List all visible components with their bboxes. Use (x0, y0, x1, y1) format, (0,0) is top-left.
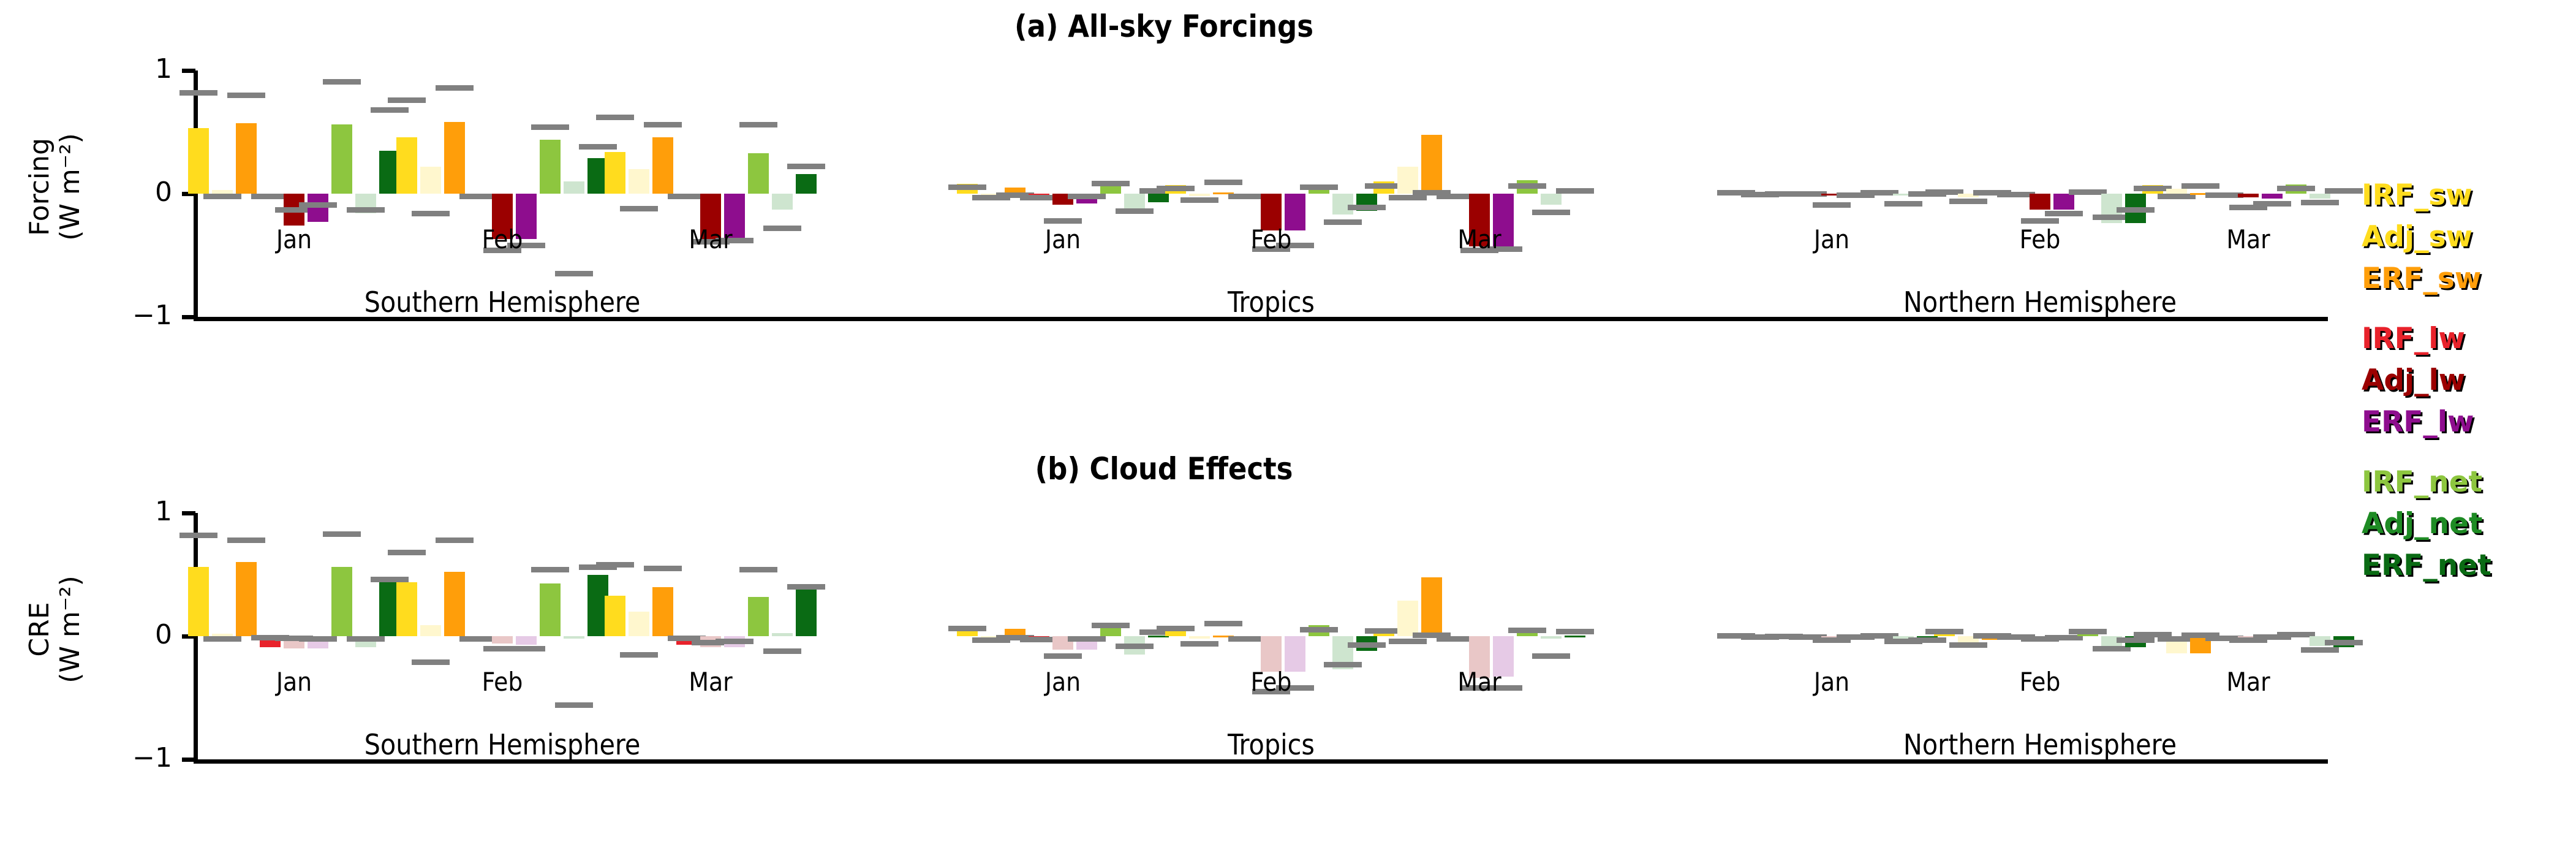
legend-item-erf_net[interactable]: ERF_net (2362, 551, 2491, 580)
marker-a-2-0-Adj_lw (1813, 202, 1851, 208)
panel-a-all-sky-forcings: (a) All-sky Forcings Forcing (W m⁻²) 10−… (0, 0, 2576, 392)
marker-b-0-2-ERF_sw (644, 566, 682, 571)
bar-b-0-2-Adj_sw (629, 612, 649, 636)
marker-a-1-0-IRF_net (1092, 181, 1130, 186)
marker-a-0-2-IRF_sw (596, 115, 634, 120)
figure-root: (a) All-sky Forcings Forcing (W m⁻²) 10−… (0, 0, 2576, 847)
marker-b-0-2-IRF_net (739, 567, 777, 572)
month-label-a-1-0: Jan (971, 227, 1155, 253)
marker-a-1-2-ERF_net (1556, 188, 1594, 194)
group-label-a-0: Southern Hemisphere (196, 288, 809, 316)
y-tick-label-1: 0 (40, 621, 172, 648)
group-label-a-2: Northern Hemisphere (1734, 288, 2346, 316)
panel-b-plot-area: 10−1JanFebMarSouthern HemisphereJanFebMa… (0, 442, 2576, 835)
marker-b-0-0-ERF_lw (299, 636, 337, 642)
bar-a-0-0-ERF_lw (308, 194, 328, 222)
month-label-b-0-2: Mar (619, 669, 803, 695)
marker-b-1-1-ERF_sw (1204, 621, 1242, 626)
marker-a-1-1-ERF_sw (1204, 180, 1242, 185)
legend-item-adj_sw[interactable]: Adj_sw (2362, 222, 2472, 251)
marker-a-0-1-IRF_sw (388, 97, 426, 103)
bar-a-1-2-Adj_net (1541, 194, 1562, 205)
group-label-b-2: Northern Hemisphere (1734, 731, 2346, 759)
bar-b-0-2-Adj_net (772, 633, 793, 636)
marker-a-0-1-Adj_sw (412, 211, 450, 216)
marker-a-2-2-ERF_net (2325, 188, 2363, 194)
bar-a-0-2-IRF_net (748, 153, 769, 194)
bar-b-0-2-ERF_sw (652, 587, 673, 636)
bar-a-1-0-ERF_net (1148, 194, 1169, 202)
bar-a-0-0-IRF_net (331, 124, 352, 194)
marker-b-1-0-ERF_lw (1068, 636, 1106, 642)
marker-b-1-2-ERF_net (1556, 629, 1594, 634)
legend-item-erf_sw[interactable]: ERF_sw (2362, 264, 2481, 293)
marker-b-2-0-ERF_net (1908, 637, 1946, 643)
month-label-a-2-1: Feb (1948, 227, 2132, 253)
marker-b-0-0-IRF_sw (179, 533, 217, 538)
legend-item-adj_lw[interactable]: Adj_lw (2362, 366, 2465, 395)
marker-b-1-2-Adj_sw (1389, 639, 1427, 644)
bar-a-2-1-ERF_lw (2053, 194, 2074, 210)
legend-item-irf_lw[interactable]: IRF_lw (2362, 324, 2465, 353)
marker-b-0-1-ERF_lw (507, 646, 545, 651)
y-tick-0 (182, 69, 195, 73)
month-label-a-0-1: Feb (410, 227, 594, 253)
group-label-b-0: Southern Hemisphere (196, 731, 809, 759)
bar-a-0-1-Adj_sw (420, 167, 441, 194)
month-label-a-2-0: Jan (1740, 227, 1924, 253)
marker-a-0-1-ERF_net (579, 144, 617, 150)
bar-b-0-2-IRF_net (748, 597, 769, 636)
marker-b-0-1-Adj_sw (412, 659, 450, 665)
y-tick-label-2: −1 (40, 302, 172, 329)
marker-b-2-1-IRF_sw (1925, 629, 1963, 634)
marker-a-0-0-IRF_net (323, 79, 361, 85)
bar-a-0-2-ERF_sw (652, 137, 673, 194)
month-label-b-1-1: Feb (1179, 669, 1363, 695)
bar-b-2-1-IRF_net (2077, 634, 2098, 636)
marker-a-1-1-Adj_net (1324, 219, 1362, 225)
bar-a-0-1-IRF_sw (396, 137, 417, 194)
bar-b-0-1-Adj_net (564, 636, 584, 639)
y-tick-0 (182, 511, 195, 515)
bar-b-0-0-IRF_net (331, 567, 352, 636)
y-tick-label-0: 1 (40, 56, 172, 83)
month-label-a-0-2: Mar (619, 227, 803, 253)
bar-a-1-1-Adj_sw (1189, 194, 1210, 196)
bar-b-0-0-ERF_sw (236, 562, 257, 636)
marker-a-0-1-ERF_sw (436, 85, 474, 91)
group-label-b-1: Tropics (965, 731, 1577, 759)
bar-b-0-0-IRF_sw (188, 567, 209, 636)
y-tick-2 (182, 315, 195, 319)
marker-b-0-1-IRF_net (531, 567, 569, 572)
month-label-b-2-0: Jan (1740, 669, 1924, 695)
marker-a-0-2-ERF_sw (644, 122, 682, 127)
marker-a-2-1-Adj_sw (1949, 199, 1987, 204)
marker-a-0-0-Adj_sw (203, 194, 241, 199)
bar-a-0-1-ERF_sw (444, 122, 465, 194)
marker-b-2-1-IRF_net (2069, 629, 2107, 634)
bar-b-0-1-Adj_sw (420, 625, 441, 636)
legend: IRF_swAdj_swERF_swIRF_lwAdj_lwERF_lwIRF_… (2362, 181, 2576, 671)
bar-a-2-2-ERF_lw (2262, 194, 2283, 199)
marker-a-2-2-IRF_net (2277, 186, 2315, 191)
marker-a-2-1-ERF_net (2117, 207, 2155, 213)
bar-b-0-1-ERF_sw (444, 572, 465, 636)
month-label-a-0-0: Jan (202, 227, 386, 253)
bar-a-0-1-IRF_net (540, 140, 561, 194)
group-label-a-1: Tropics (965, 288, 1577, 316)
marker-b-0-0-IRF_net (323, 531, 361, 537)
marker-b-0-1-IRF_sw (388, 550, 426, 555)
marker-a-0-0-ERF_sw (227, 93, 265, 98)
bar-b-0-2-ERF_net (796, 585, 817, 636)
panel-a-plot-area: 10−1JanFebMarSouthern HemisphereJanFebMa… (0, 0, 2576, 392)
marker-b-1-1-Adj_sw (1180, 641, 1218, 647)
marker-b-0-2-ERF_lw (716, 639, 754, 644)
marker-a-2-1-Adj_lw (2021, 218, 2059, 224)
marker-b-1-1-IRF_net (1300, 627, 1338, 632)
marker-b-0-1-Adj_net (555, 702, 593, 708)
legend-item-adj_net[interactable]: Adj_net (2362, 509, 2482, 538)
bar-a-0-2-IRF_sw (605, 152, 625, 194)
bar-b-1-2-ERF_sw (1421, 577, 1442, 636)
bar-b-0-1-ERF_lw (516, 636, 537, 645)
bar-b-1-2-Adj_sw (1397, 601, 1418, 636)
marker-a-0-0-Adj_net (347, 207, 385, 213)
marker-b-0-0-Adj_net (347, 636, 385, 642)
marker-b-0-1-ERF_sw (436, 537, 474, 543)
marker-b-2-1-ERF_net (2117, 637, 2155, 643)
marker-a-0-1-IRF_net (531, 124, 569, 130)
marker-b-2-2-Adj_net (2301, 647, 2339, 653)
month-label-a-1-2: Mar (1388, 227, 1571, 253)
marker-a-2-2-Adj_net (2301, 200, 2339, 205)
legend-item-erf_lw[interactable]: ERF_lw (2362, 408, 2474, 436)
y-tick-label-1: 0 (40, 179, 172, 206)
month-label-b-1-2: Mar (1388, 669, 1571, 695)
marker-a-0-0-ERF_net (371, 107, 409, 113)
bar-b-0-1-Adj_lw (492, 636, 513, 644)
marker-a-0-2-Adj_sw (620, 206, 658, 211)
marker-a-0-0-IRF_sw (179, 90, 217, 96)
marker-a-1-1-Adj_sw (1180, 197, 1218, 203)
marker-a-1-2-IRF_net (1508, 183, 1546, 189)
marker-a-1-1-IRF_sw (1157, 186, 1195, 191)
marker-a-2-2-ERF_sw (2181, 183, 2219, 189)
marker-b-0-2-Adj_net (763, 648, 801, 654)
bar-a-1-2-Adj_sw (1397, 167, 1418, 194)
marker-b-2-2-ERF_net (2325, 640, 2363, 645)
marker-b-0-2-ERF_net (787, 584, 825, 590)
month-label-b-0-1: Feb (410, 669, 594, 695)
bar-a-0-2-Adj_sw (629, 169, 649, 194)
marker-b-0-2-Adj_sw (620, 652, 658, 658)
marker-b-0-0-Adj_sw (203, 636, 241, 642)
marker-b-1-1-IRF_sw (1157, 626, 1195, 631)
bar-b-0-2-IRF_sw (605, 596, 625, 636)
bar-a-2-2-Adj_lw (2238, 194, 2259, 197)
bar-a-0-0-ERF_sw (236, 123, 257, 194)
panel-b-cloud-effects: (b) Cloud Effects CRE (W m⁻²) 10−1JanFeb… (0, 442, 2576, 835)
y-tick-2 (182, 758, 195, 762)
bar-b-0-1-IRF_sw (396, 582, 417, 636)
month-label-b-0-0: Jan (202, 669, 386, 695)
bar-b-1-2-ERF_net (1565, 636, 1585, 637)
legend-item-irf_net[interactable]: IRF_net (2362, 468, 2482, 496)
marker-a-1-0-Adj_lw (1044, 218, 1082, 224)
marker-a-1-1-ERF_net (1348, 205, 1386, 210)
month-label-a-2-2: Mar (2156, 227, 2340, 253)
marker-b-1-1-ERF_net (1348, 642, 1386, 648)
marker-b-1-0-IRF_net (1092, 623, 1130, 628)
legend-item-irf_sw[interactable]: IRF_sw (2362, 181, 2472, 210)
bar-a-2-1-Adj_lw (2030, 194, 2050, 210)
marker-a-1-1-IRF_net (1300, 184, 1338, 190)
marker-a-0-0-ERF_lw (299, 202, 337, 208)
marker-a-2-1-ERF_lw (2045, 211, 2083, 216)
marker-a-2-0-Adj_net (1884, 201, 1922, 207)
marker-a-2-2-ERF_lw (2253, 201, 2291, 207)
month-label-a-1-1: Feb (1179, 227, 1363, 253)
marker-b-1-0-IRF_sw (948, 626, 986, 631)
month-label-b-2-2: Mar (2156, 669, 2340, 695)
y-tick-label-0: 1 (40, 498, 172, 525)
marker-b-1-0-Adj_lw (1044, 653, 1082, 659)
marker-a-1-0-ERF_lw (1068, 194, 1106, 199)
marker-b-2-1-Adj_sw (1949, 642, 1987, 648)
bar-b-0-1-IRF_net (540, 583, 561, 636)
month-label-b-2-1: Feb (1948, 669, 2132, 695)
marker-b-0-0-ERF_sw (227, 537, 265, 543)
bar-a-0-1-Adj_net (564, 181, 584, 194)
marker-b-1-2-Adj_net (1532, 653, 1570, 659)
marker-a-0-2-IRF_net (739, 122, 777, 127)
bar-a-0-0-IRF_sw (188, 128, 209, 194)
marker-b-1-2-IRF_net (1508, 628, 1546, 633)
bar-a-1-2-ERF_sw (1421, 135, 1442, 194)
marker-a-1-2-Adj_net (1532, 210, 1570, 215)
month-label-b-1-0: Jan (971, 669, 1155, 695)
marker-a-0-1-Adj_net (555, 271, 593, 276)
bar-a-0-2-ERF_net (796, 174, 817, 194)
bar-a-2-2-Adj_net (2310, 194, 2330, 199)
marker-b-0-2-IRF_sw (596, 562, 634, 568)
marker-a-1-0-Adj_net (1116, 208, 1154, 214)
bar-a-0-2-Adj_net (772, 194, 793, 210)
marker-b-1-0-Adj_net (1116, 644, 1154, 649)
bar-b-1-1-Adj_sw (1189, 636, 1210, 639)
bar-b-1-2-Adj_net (1541, 636, 1562, 639)
marker-a-1-0-IRF_sw (948, 184, 986, 190)
marker-b-1-1-Adj_net (1324, 662, 1362, 667)
y-tick-label-2: −1 (40, 745, 172, 772)
marker-a-0-2-ERF_net (787, 164, 825, 169)
